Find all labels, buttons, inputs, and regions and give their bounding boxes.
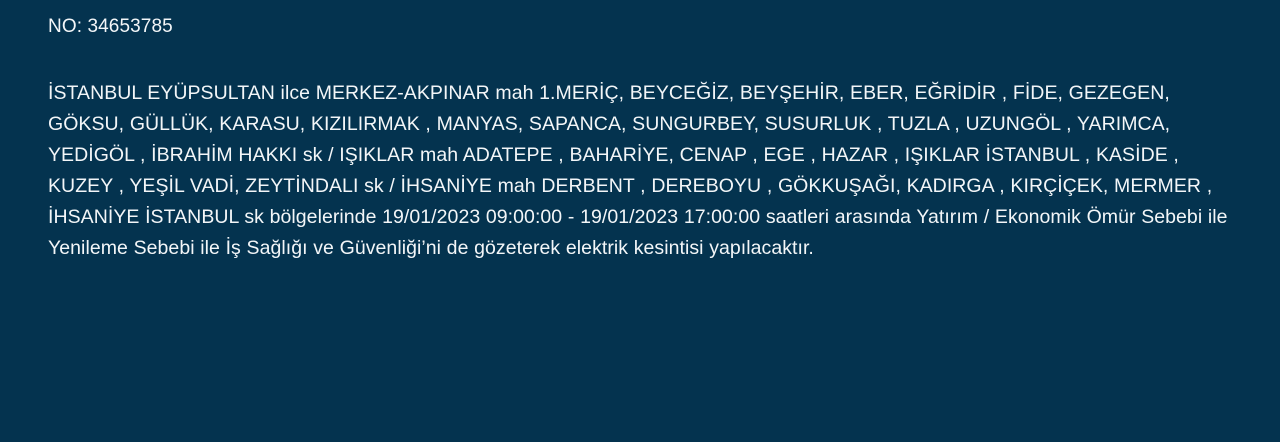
notice-number: NO: 34653785 [48,15,173,39]
notice-body-text: İSTANBUL EYÜPSULTAN ilce MERKEZ-AKPINAR … [48,78,1243,264]
outage-notice-page: NO: 34653785 İSTANBUL EYÜPSULTAN ilce ME… [0,0,1280,442]
